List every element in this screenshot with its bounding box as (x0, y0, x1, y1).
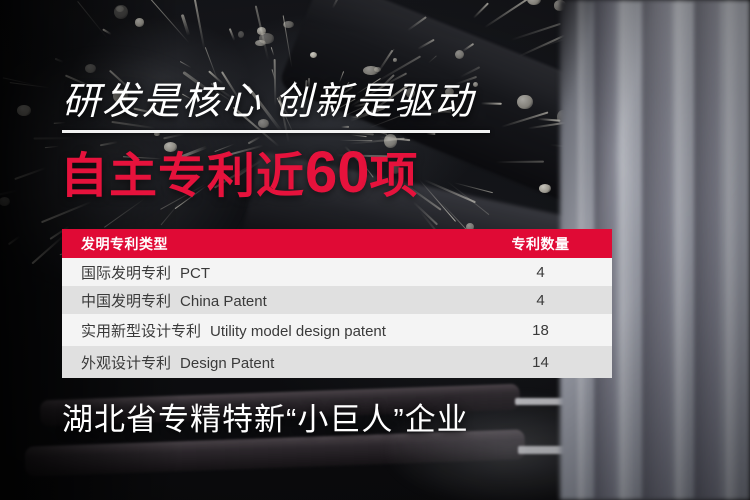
cell-patent-type: 实用新型设计专利Utility model design patent (62, 320, 477, 341)
cell-patent-type-cn: 国际发明专利 (81, 265, 171, 282)
cell-patent-type-en: Design Patent (180, 355, 274, 372)
patent-table-header: 发明专利类型 专利数量 (62, 229, 612, 258)
cell-patent-type: 国际发明专利PCT (62, 262, 477, 283)
patent-table: 发明专利类型 专利数量 国际发明专利PCT 4 中国发明专利China Pate… (62, 229, 612, 378)
headline-divider (62, 130, 490, 133)
cell-patent-type-en: Utility model design patent (210, 323, 386, 340)
cell-patent-type-cn: 实用新型设计专利 (81, 323, 201, 340)
table-row: 实用新型设计专利Utility model design patent 18 (62, 314, 612, 346)
headline-highlight-prefix: 自主专利近 (60, 150, 305, 203)
cell-patent-count: 4 (477, 292, 612, 309)
cell-patent-type-cn: 中国发明专利 (81, 293, 171, 310)
headline-highlight-number: 60 (305, 140, 370, 205)
headline-highlight: 自主专利近60项 (60, 144, 419, 206)
cell-patent-type-en: China Patent (180, 293, 267, 310)
cell-patent-count: 18 (477, 322, 612, 339)
cell-patent-count: 4 (477, 264, 612, 281)
promo-banner: 研发是核心 创新是驱动 自主专利近60项 发明专利类型 专利数量 国际发明专利P… (0, 0, 750, 500)
cell-patent-type-en: PCT (180, 265, 210, 282)
cell-patent-type-cn: 外观设计专利 (81, 355, 171, 372)
cell-patent-count: 14 (477, 354, 612, 371)
banner-caption: 湖北省专精特新“小巨人”企业 (62, 400, 469, 440)
banner-content: 研发是核心 创新是驱动 自主专利近60项 发明专利类型 专利数量 国际发明专利P… (0, 0, 750, 500)
cell-patent-type: 外观设计专利Design Patent (62, 352, 477, 373)
table-row: 国际发明专利PCT 4 (62, 258, 612, 286)
headline-primary: 研发是核心 创新是驱动 (62, 80, 475, 124)
table-row: 外观设计专利Design Patent 14 (62, 346, 612, 378)
headline-highlight-suffix: 项 (370, 150, 419, 203)
cell-patent-type: 中国发明专利China Patent (62, 290, 477, 311)
column-header-type: 发明专利类型 (62, 234, 477, 254)
column-header-count: 专利数量 (477, 234, 612, 254)
table-row: 中国发明专利China Patent 4 (62, 286, 612, 314)
